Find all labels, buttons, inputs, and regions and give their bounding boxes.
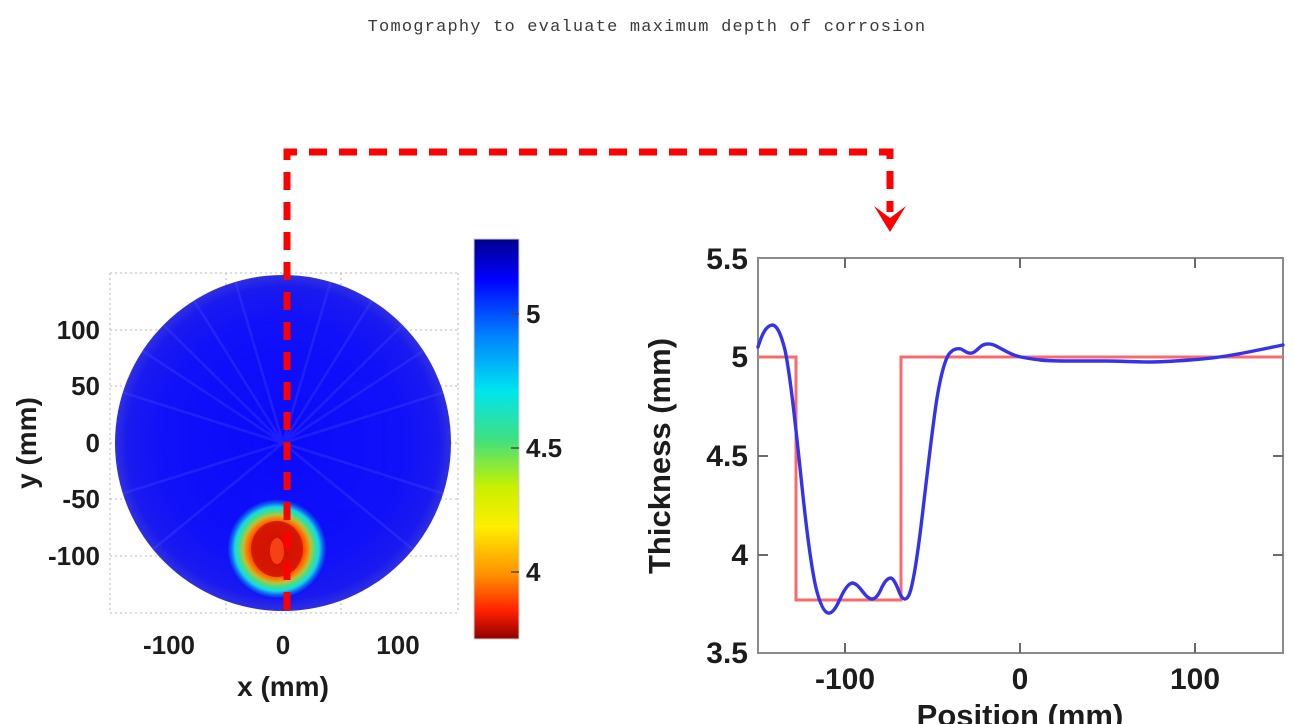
svg-text:4.5: 4.5	[706, 440, 748, 473]
colorbar-ticks: 5 4.5 4	[526, 299, 562, 587]
svg-text:0: 0	[86, 428, 100, 458]
tomogram-x-ticks: -100 0 100	[143, 630, 420, 660]
figure-title: Tomography to evaluate maximum depth of …	[0, 18, 1294, 37]
profile-y-ticks: 5.5 5 4.5 4 3.5	[706, 243, 748, 670]
profile-chart-svg: 5.5 5 4.5 4 3.5 -100 0 100 Position (mm)…	[620, 230, 1294, 724]
profile-axes-frame	[758, 258, 1283, 653]
profile-chart-panel: 5.5 5 4.5 4 3.5 -100 0 100 Position (mm)…	[620, 230, 1294, 724]
series-measured-profile	[758, 325, 1283, 613]
svg-text:4: 4	[526, 557, 541, 587]
tomogram-image	[115, 270, 451, 611]
profile-x-ticks: -100 0 100	[815, 663, 1220, 696]
svg-text:-100: -100	[143, 630, 195, 660]
colorbar: 5 4.5 4	[474, 239, 562, 639]
svg-text:0: 0	[1012, 663, 1029, 696]
svg-text:5: 5	[731, 341, 748, 374]
tomogram-panel: 100 50 0 -50 -100 -100 0 100 x (mm) y (m…	[0, 230, 620, 724]
svg-text:4.5: 4.5	[526, 433, 562, 463]
tomogram-x-axis-label: x (mm)	[237, 671, 329, 702]
series-reference-step	[758, 357, 1283, 600]
svg-text:-100: -100	[815, 663, 875, 696]
svg-text:5: 5	[526, 299, 540, 329]
svg-text:100: 100	[57, 315, 100, 345]
tomogram-y-axis-label: y (mm)	[11, 397, 42, 489]
callout-arrow-head	[874, 206, 906, 232]
svg-text:5.5: 5.5	[706, 243, 748, 276]
svg-text:3.5: 3.5	[706, 637, 748, 670]
profile-tick-marks	[758, 258, 1283, 653]
corrosion-defect	[227, 499, 327, 599]
svg-text:-100: -100	[48, 541, 100, 571]
profile-x-axis-label: Position (mm)	[917, 698, 1124, 724]
svg-text:4: 4	[731, 539, 748, 572]
profile-y-axis-label: Thickness (mm)	[642, 338, 677, 574]
svg-text:100: 100	[1170, 663, 1220, 696]
svg-text:-50: -50	[62, 484, 100, 514]
svg-text:100: 100	[376, 630, 419, 660]
svg-text:0: 0	[276, 630, 290, 660]
tomogram-y-ticks: 100 50 0 -50 -100	[48, 315, 100, 571]
svg-text:50: 50	[71, 371, 100, 401]
tomogram-svg: 100 50 0 -50 -100 -100 0 100 x (mm) y (m…	[0, 230, 620, 724]
